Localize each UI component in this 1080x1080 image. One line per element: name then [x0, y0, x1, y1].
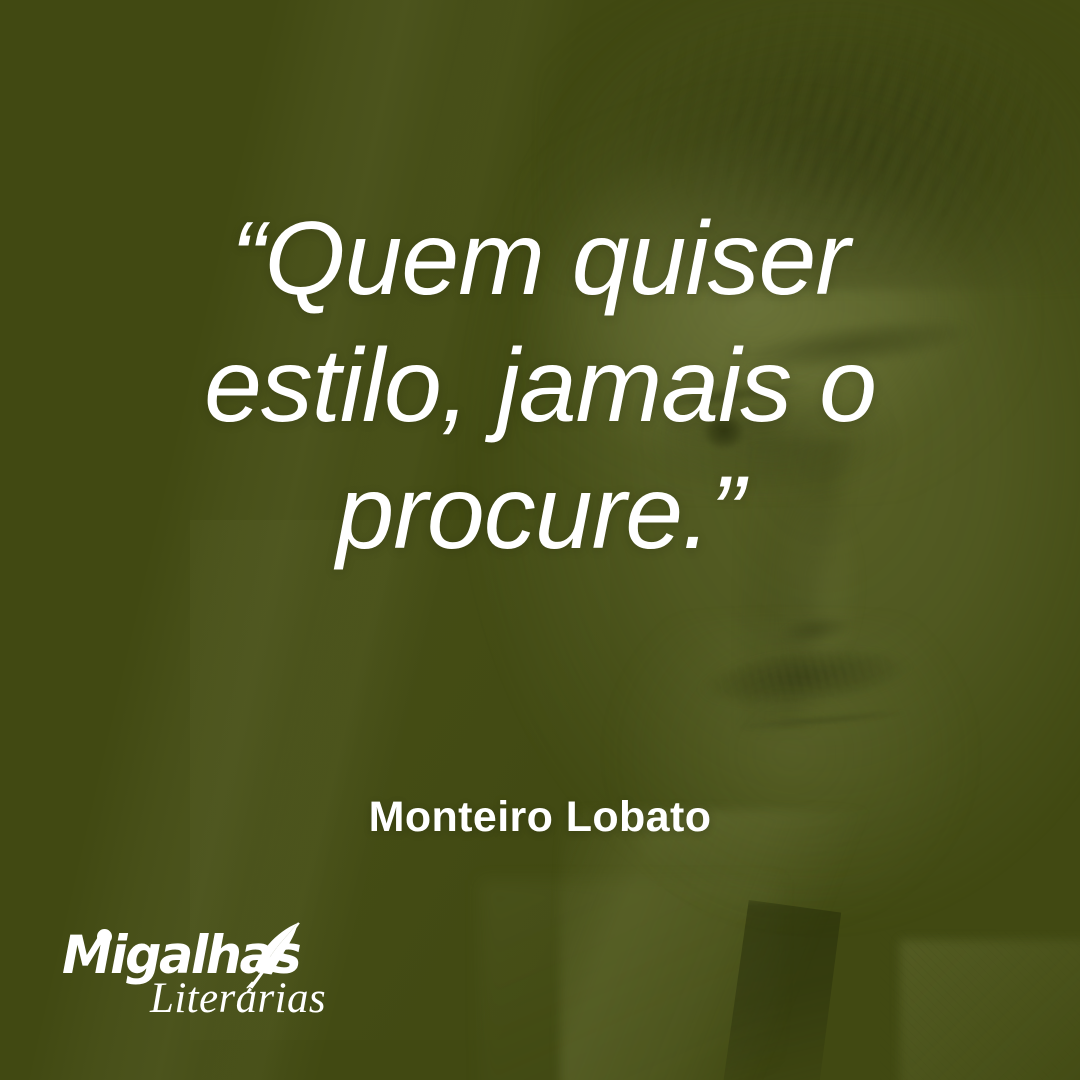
quote-line-3: procure.”: [120, 450, 960, 577]
feather-quill-icon: [240, 921, 302, 997]
author-name: Monteiro Lobato: [0, 793, 1080, 842]
quote-line-1: “Quem quiser: [120, 196, 960, 323]
quote-card: “Quem quiser estilo, jamais o procure.” …: [0, 0, 1080, 1080]
quote-text: “Quem quiser estilo, jamais o procure.”: [0, 196, 1080, 577]
quote-line-2: estilo, jamais o: [120, 323, 960, 450]
brand-logo[interactable]: Migalhas Literárias: [62, 925, 392, 1035]
card-content: “Quem quiser estilo, jamais o procure.” …: [0, 0, 1080, 1080]
brand-logo-i-dot: [97, 929, 112, 944]
